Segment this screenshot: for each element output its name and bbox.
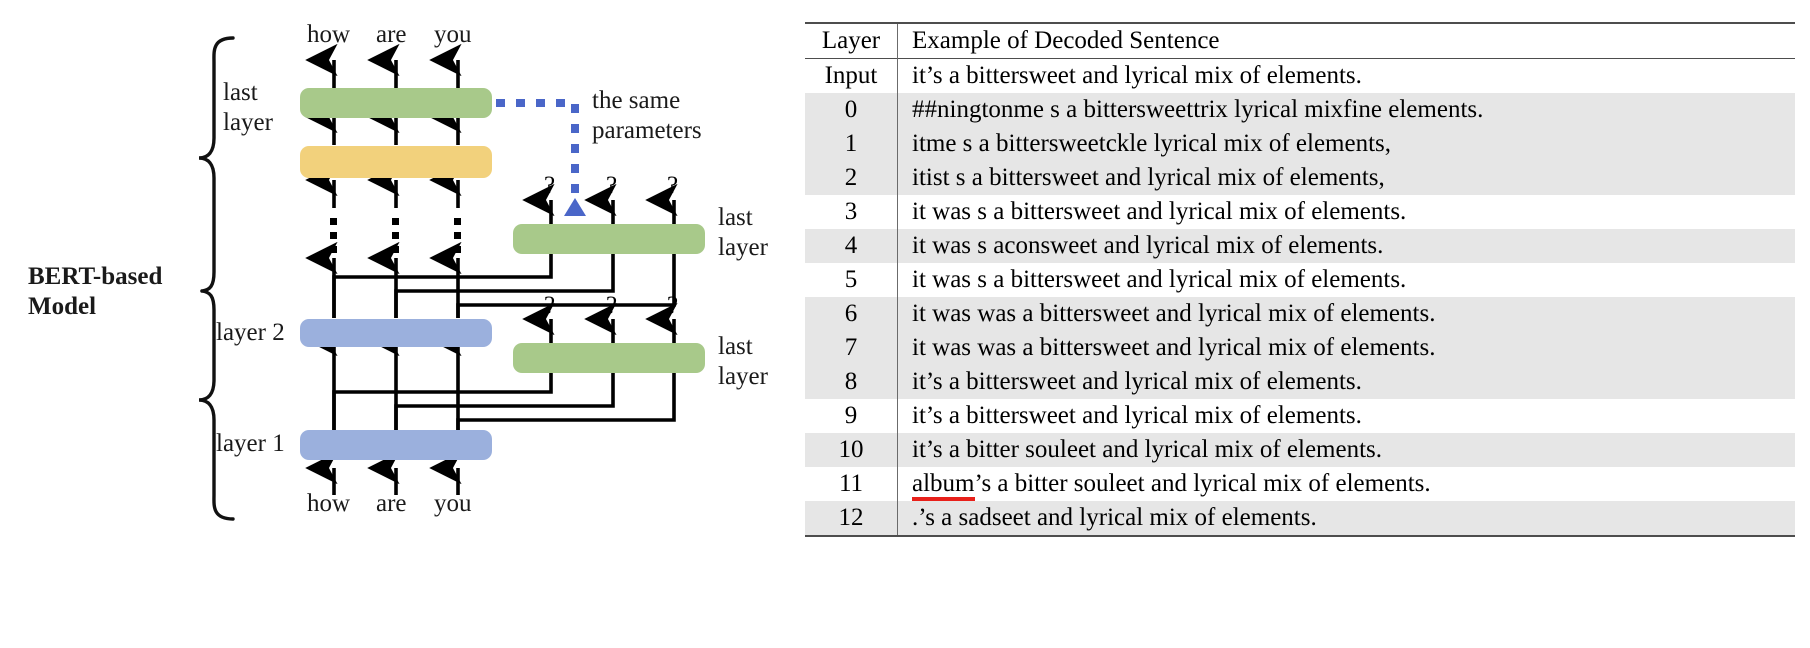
table-body: Inputit’s a bittersweet and lyrical mix … [805, 59, 1795, 537]
cell-layer: 7 [805, 331, 898, 365]
cell-layer: 9 [805, 399, 898, 433]
vertical-ellipsis [330, 218, 461, 253]
table-row: 3it was s a bittersweet and lyrical mix … [805, 195, 1795, 229]
same-parameters-note: the same parameters [592, 86, 702, 146]
table-header-row: Layer Example of Decoded Sentence [805, 23, 1795, 59]
table-row: 11album’s a bitter souleet and lyrical m… [805, 467, 1795, 501]
cell-layer: 10 [805, 433, 898, 467]
right-label-last-layer-low: last layer [718, 332, 768, 392]
same-parameters-connector [496, 103, 586, 216]
cell-layer: 5 [805, 263, 898, 297]
bert-architecture-diagram: how are you how are you last layer BERT-… [0, 0, 800, 648]
table-row: 4it was s aconsweet and lyrical mix of e… [805, 229, 1795, 263]
column-header-layer: Layer [805, 23, 898, 59]
brace-upper [199, 38, 233, 291]
bottom-token-how: how [307, 489, 350, 519]
skip-connections-lower [334, 368, 674, 432]
bar-layer-1 [300, 430, 492, 460]
brace-label-last-layer: last layer [223, 78, 273, 138]
decoded-sentences-table: Layer Example of Decoded Sentence Inputi… [805, 22, 1795, 537]
cell-sentence: ##ningtonme s a bittersweettrix lyrical … [898, 93, 1796, 127]
table-row: 2itist s a bittersweet and lyrical mix o… [805, 161, 1795, 195]
question-mark-l3: ? [667, 292, 678, 320]
cell-sentence: it was s a bittersweet and lyrical mix o… [898, 263, 1796, 297]
model-label: BERT-based Model [28, 262, 162, 322]
cell-layer: 6 [805, 297, 898, 331]
right-label-last-layer-mid: last layer [718, 203, 768, 263]
cell-sentence: itist s a bittersweet and lyrical mix of… [898, 161, 1796, 195]
table-row: 6it was was a bittersweet and lyrical mi… [805, 297, 1795, 331]
cell-sentence: it was was a bittersweet and lyrical mix… [898, 331, 1796, 365]
cell-layer: 2 [805, 161, 898, 195]
label-layer-1: layer 1 [216, 429, 285, 459]
cell-sentence: it’s a bittersweet and lyrical mix of el… [898, 59, 1796, 94]
bottom-token-you: you [434, 489, 472, 519]
table-row: 5it was s a bittersweet and lyrical mix … [805, 263, 1795, 297]
red-underlined-token: album [912, 470, 975, 501]
cell-sentence: itme s a bittersweetckle lyrical mix of … [898, 127, 1796, 161]
table-row: Inputit’s a bittersweet and lyrical mix … [805, 59, 1795, 94]
cell-sentence: .’s a sadseet and lyrical mix of element… [898, 501, 1796, 536]
cell-layer: 4 [805, 229, 898, 263]
cell-sentence: it was s a bittersweet and lyrical mix o… [898, 195, 1796, 229]
cell-sentence: it was s aconsweet and lyrical mix of el… [898, 229, 1796, 263]
question-mark-l2: ? [606, 292, 617, 320]
table-row: 8it’s a bittersweet and lyrical mix of e… [805, 365, 1795, 399]
question-mark-u1: ? [544, 172, 555, 200]
cell-layer: 11 [805, 467, 898, 501]
question-mark-l1: ? [544, 292, 555, 320]
cell-layer: 12 [805, 501, 898, 536]
bar-yellow [300, 146, 492, 178]
cell-sentence: it was was a bittersweet and lyrical mix… [898, 297, 1796, 331]
question-mark-u3: ? [667, 172, 678, 200]
cell-layer: Input [805, 59, 898, 94]
bar-last-layer-green-mid [513, 224, 705, 254]
label-layer-2: layer 2 [216, 318, 285, 348]
table-row: 10it’s a bitter souleet and lyrical mix … [805, 433, 1795, 467]
table-row: 0##ningtonme s a bittersweettrix lyrical… [805, 93, 1795, 127]
cell-layer: 3 [805, 195, 898, 229]
top-token-how: how [307, 20, 350, 50]
bar-last-layer-green-low [513, 343, 705, 373]
table-row: 12.’s a sadseet and lyrical mix of eleme… [805, 501, 1795, 536]
column-header-sentence: Example of Decoded Sentence [898, 23, 1796, 59]
top-token-are: are [376, 20, 407, 50]
bar-last-layer-green-top [300, 88, 492, 118]
table-row: 7it was was a bittersweet and lyrical mi… [805, 331, 1795, 365]
table-row: 1itme s a bittersweetckle lyrical mix of… [805, 127, 1795, 161]
question-mark-u2: ? [606, 172, 617, 200]
decoded-sentences-table-wrap: Layer Example of Decoded Sentence Inputi… [805, 22, 1795, 537]
skip-connections-upper [334, 250, 674, 318]
cell-sentence: album’s a bitter souleet and lyrical mix… [898, 467, 1796, 501]
cell-sentence: it’s a bittersweet and lyrical mix of el… [898, 399, 1796, 433]
cell-layer: 1 [805, 127, 898, 161]
bottom-token-are: are [376, 489, 407, 519]
top-token-you: you [434, 20, 472, 50]
cell-layer: 0 [805, 93, 898, 127]
cell-layer: 8 [805, 365, 898, 399]
table-head: Layer Example of Decoded Sentence [805, 23, 1795, 59]
cell-sentence: it’s a bittersweet and lyrical mix of el… [898, 365, 1796, 399]
bar-layer-2 [300, 319, 492, 347]
figure-root: how are you how are you last layer BERT-… [0, 0, 1810, 648]
cell-sentence: it’s a bitter souleet and lyrical mix of… [898, 433, 1796, 467]
table-row: 9it’s a bittersweet and lyrical mix of e… [805, 399, 1795, 433]
